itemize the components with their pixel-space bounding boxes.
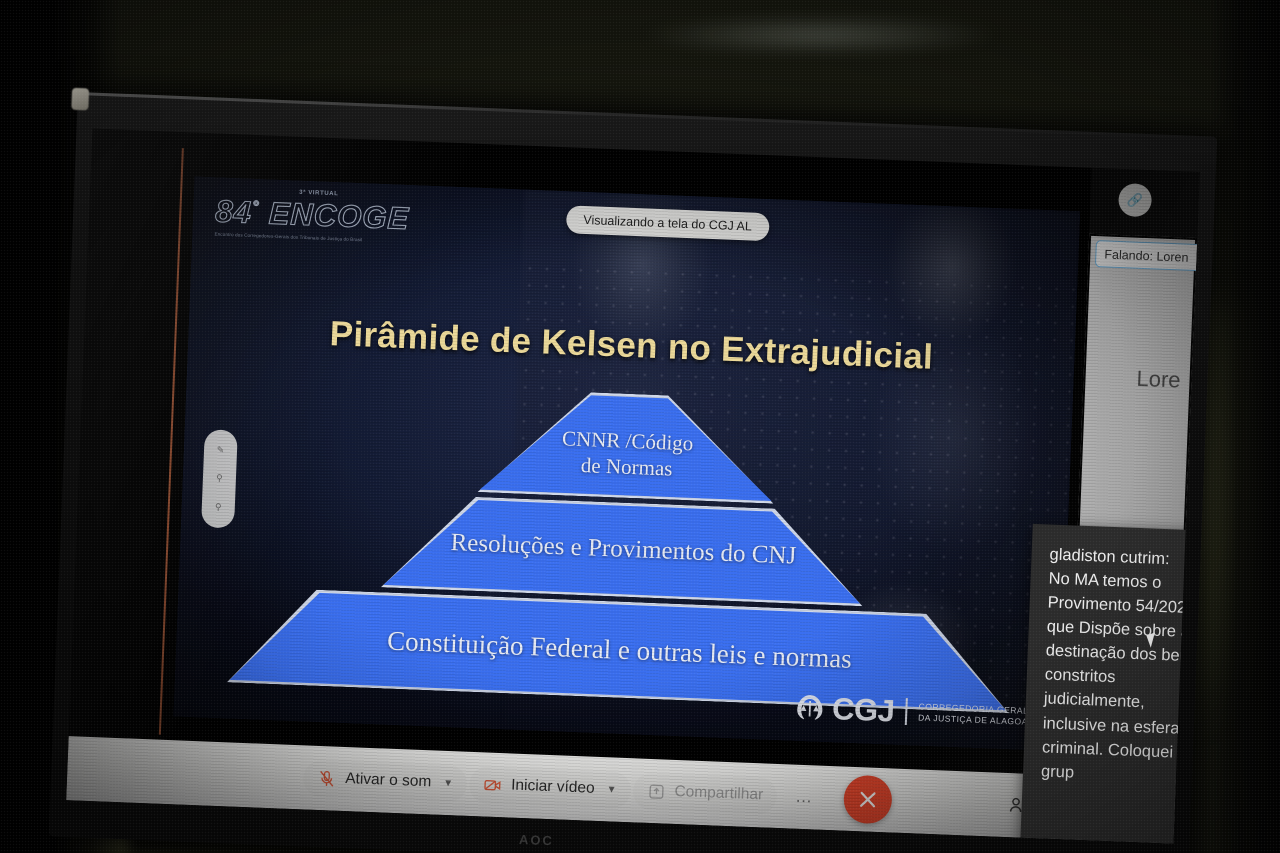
annotate-icon[interactable]: ✎ <box>217 446 225 455</box>
unmute-button-label: Ativar o som <box>345 770 432 791</box>
encoge-name: ENCOGE <box>268 196 410 236</box>
photo-scene: AOC 3ª VIRTUAL 84° ENCOGE Encontro dos C… <box>0 0 1280 853</box>
chat-popup[interactable]: gladiston cutrim: No MA temos o Provimen… <box>1020 524 1199 844</box>
cgj-scales-icon <box>794 692 826 724</box>
speaking-label: Falando: Loren <box>1095 240 1200 272</box>
pyramid-tier-2: Resoluções e Provimentos do CNJ <box>383 496 863 604</box>
toolbar-more-button[interactable]: … <box>778 777 830 817</box>
audio-chevron-down-icon[interactable]: ▼ <box>443 777 453 788</box>
encoge-degree: ° <box>252 199 260 216</box>
kelsen-pyramid: CNNR /Código de Normas Resoluções e Prov… <box>175 376 1072 721</box>
cgj-divider <box>905 698 908 725</box>
slide-tools-pill[interactable]: ✎ ⚲ ⚲ <box>201 429 238 528</box>
chat-message: No MA temos o Provimento 54/2020, que Di… <box>1041 570 1200 782</box>
pyramid-tier-3: Constituição Federal e outras leis e nor… <box>230 589 1010 710</box>
participant-name: Lore <box>1085 364 1200 396</box>
monitor-screen: 3ª VIRTUAL 84° ENCOGE Encontro dos Corre… <box>66 129 1200 844</box>
pyramid-tier-1-line2: de Normas <box>561 451 693 482</box>
bezel-corner-clip <box>71 88 89 111</box>
zoom-out-icon[interactable]: ⚲ <box>215 503 222 512</box>
participant-tile-active[interactable]: Falando: Loren Lore <box>1078 234 1197 533</box>
presentation-slide: 3ª VIRTUAL 84° ENCOGE Encontro dos Corre… <box>174 177 1081 751</box>
shared-screen-area: 3ª VIRTUAL 84° ENCOGE Encontro dos Corre… <box>159 148 1094 770</box>
encoge-logo: 3ª VIRTUAL 84° ENCOGE Encontro dos Corre… <box>214 195 415 244</box>
close-icon <box>857 788 880 811</box>
pin-icon[interactable]: 🔗 <box>1118 183 1152 217</box>
start-video-button-label: Iniciar vídeo <box>511 777 595 798</box>
cgj-subtitle: CORREGEDORIA GERAL DA JUSTIÇA DE ALAGOAS <box>918 701 1035 727</box>
microphone-muted-icon <box>317 768 337 788</box>
chat-sender: gladiston cutrim: <box>1049 543 1200 573</box>
leave-meeting-button[interactable] <box>843 775 893 825</box>
cgj-letters: CGJ <box>832 693 895 726</box>
share-screen-icon <box>646 781 666 801</box>
ceiling-light-glow <box>560 0 1080 70</box>
camera-off-icon <box>483 775 503 795</box>
share-screen-button-label: Compartilhar <box>674 783 763 804</box>
start-video-button[interactable]: Iniciar vídeo ▼ <box>468 765 631 808</box>
pyramid-tier-1: CNNR /Código de Normas <box>480 391 776 501</box>
encoge-number: 84 <box>215 194 253 230</box>
vignette-right <box>1210 0 1280 853</box>
zoom-in-icon[interactable]: ⚲ <box>216 474 223 483</box>
video-chevron-down-icon[interactable]: ▼ <box>606 784 616 795</box>
monitor: AOC 3ª VIRTUAL 84° ENCOGE Encontro dos C… <box>49 92 1217 853</box>
unmute-button[interactable]: Ativar o som ▼ <box>303 759 468 802</box>
monitor-brand-logo: AOC <box>519 832 554 848</box>
share-screen-button[interactable]: Compartilhar <box>632 772 778 815</box>
encoge-wordmark: 84° ENCOGE <box>215 195 416 234</box>
